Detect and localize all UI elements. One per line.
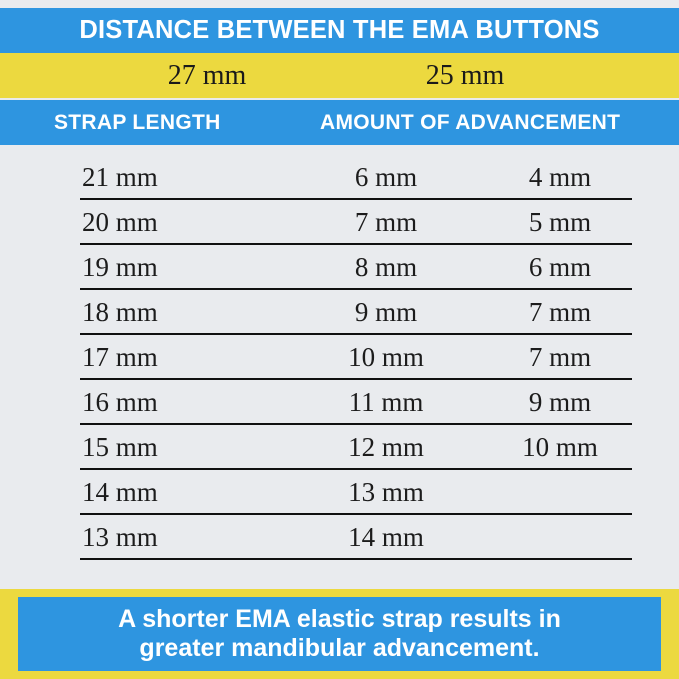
ema-strap-length-infographic: DISTANCE BETWEEN THE EMA BUTTONS 27 mm 2… — [0, 0, 679, 679]
table-row: 13 mm14 mm — [0, 515, 679, 560]
cell-advancement-27mm: 11 mm — [300, 380, 472, 425]
table-row: 19 mm8 mm6 mm — [0, 245, 679, 290]
conclusion-line-1: A shorter EMA elastic strap results in — [118, 605, 561, 635]
conclusion-line-2: greater mandibular advancement. — [139, 634, 539, 664]
cell-advancement-27mm: 13 mm — [300, 470, 472, 515]
cell-strap-length: 19 mm — [82, 245, 272, 290]
table-row: 16 mm11 mm9 mm — [0, 380, 679, 425]
table-row: 14 mm13 mm — [0, 470, 679, 515]
cell-strap-length: 16 mm — [82, 380, 272, 425]
column-header-row: STRAP LENGTH AMOUNT OF ADVANCEMENT — [0, 100, 679, 145]
cell-advancement-25mm: 5 mm — [474, 200, 646, 245]
row-divider — [80, 558, 632, 560]
column-header-strap-length: STRAP LENGTH — [54, 100, 221, 145]
table-row: 18 mm9 mm7 mm — [0, 290, 679, 335]
table-row: 21 mm6 mm4 mm — [0, 155, 679, 200]
cell-strap-length: 18 mm — [82, 290, 272, 335]
button-distance-25mm: 25 mm — [375, 53, 555, 98]
table-row: 15 mm12 mm10 mm — [0, 425, 679, 470]
button-distance-27mm: 27 mm — [117, 53, 297, 98]
cell-advancement-27mm: 12 mm — [300, 425, 472, 470]
conclusion-inner: A shorter EMA elastic strap results in g… — [18, 597, 661, 671]
cell-strap-length: 15 mm — [82, 425, 272, 470]
cell-advancement-25mm: 9 mm — [474, 380, 646, 425]
cell-advancement-25mm: 7 mm — [474, 290, 646, 335]
cell-advancement-27mm: 9 mm — [300, 290, 472, 335]
column-header-amount-of-advancement: AMOUNT OF ADVANCEMENT — [320, 100, 620, 145]
cell-advancement-27mm: 10 mm — [300, 335, 472, 380]
button-distance-header-row: 27 mm 25 mm — [0, 53, 679, 98]
cell-strap-length: 21 mm — [82, 155, 272, 200]
cell-advancement-27mm: 7 mm — [300, 200, 472, 245]
table-row: 20 mm7 mm5 mm — [0, 200, 679, 245]
cell-advancement-25mm — [474, 515, 646, 560]
cell-strap-length: 17 mm — [82, 335, 272, 380]
cell-strap-length: 20 mm — [82, 200, 272, 245]
cell-advancement-25mm: 7 mm — [474, 335, 646, 380]
cell-advancement-27mm: 6 mm — [300, 155, 472, 200]
cell-strap-length: 13 mm — [82, 515, 272, 560]
conclusion-banner: A shorter EMA elastic strap results in g… — [0, 589, 679, 679]
cell-advancement-25mm: 10 mm — [474, 425, 646, 470]
cell-advancement-25mm — [474, 470, 646, 515]
title-banner: DISTANCE BETWEEN THE EMA BUTTONS — [0, 8, 679, 53]
cell-advancement-25mm: 4 mm — [474, 155, 646, 200]
table-body: 21 mm6 mm4 mm20 mm7 mm5 mm19 mm8 mm6 mm1… — [0, 146, 679, 577]
table-row: 17 mm10 mm7 mm — [0, 335, 679, 380]
cell-strap-length: 14 mm — [82, 470, 272, 515]
cell-advancement-27mm: 8 mm — [300, 245, 472, 290]
cell-advancement-25mm: 6 mm — [474, 245, 646, 290]
cell-advancement-27mm: 14 mm — [300, 515, 472, 560]
page-title: DISTANCE BETWEEN THE EMA BUTTONS — [79, 16, 599, 45]
